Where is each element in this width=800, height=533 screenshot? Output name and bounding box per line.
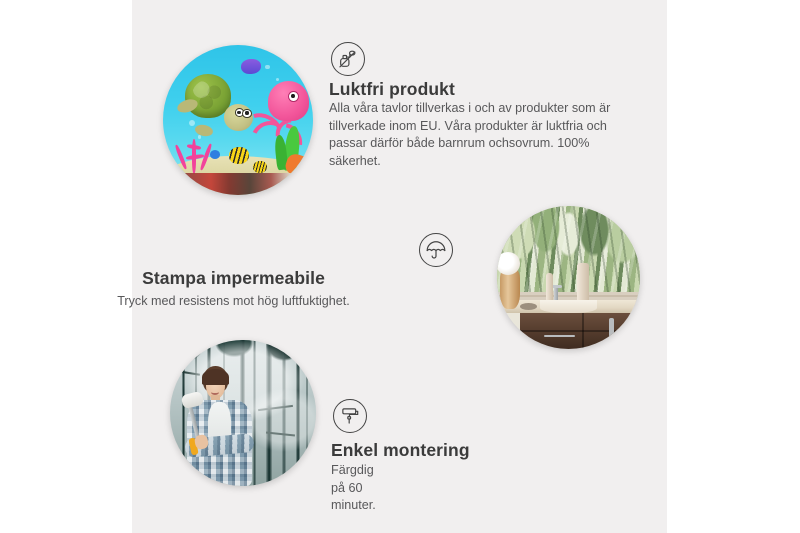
umbrella-icon xyxy=(419,233,453,267)
paint-roller-icon xyxy=(333,399,367,433)
blue-fish-icon xyxy=(210,150,221,159)
bottle-object xyxy=(577,263,588,303)
yellow-fish-icon xyxy=(253,161,267,173)
bathroom-tropical-wallpaper-photo xyxy=(497,206,640,349)
vanity-cabinet-object xyxy=(520,313,640,349)
underwater-cartoon-photo xyxy=(163,45,313,195)
sink-object xyxy=(540,300,597,313)
flower-object xyxy=(497,252,520,275)
feature-title: Stampa impermeabile xyxy=(0,268,467,289)
woman-with-roller-forest-photo xyxy=(170,340,316,486)
vase-object xyxy=(500,269,520,309)
bubble-icon xyxy=(265,65,270,70)
product-features-banner: Luktfri produkt Alla våra tavlor tillver… xyxy=(0,0,800,533)
feature-body: Alla våra tavlor tillverkas i och av pro… xyxy=(329,100,624,170)
no-perfume-icon xyxy=(331,42,365,76)
feature-body: Färgdig på 60 minuter. xyxy=(331,462,376,515)
feature-title: Luktfri produkt xyxy=(329,79,455,100)
feature-body: Tryck med resistens mot hög luftfuktighe… xyxy=(0,293,467,311)
yellow-fish-icon xyxy=(229,147,249,164)
woman-illustration xyxy=(179,366,261,486)
feature-title: Enkel montering xyxy=(331,440,470,461)
turtle-illustration xyxy=(181,72,250,132)
bottle-object xyxy=(546,273,553,302)
